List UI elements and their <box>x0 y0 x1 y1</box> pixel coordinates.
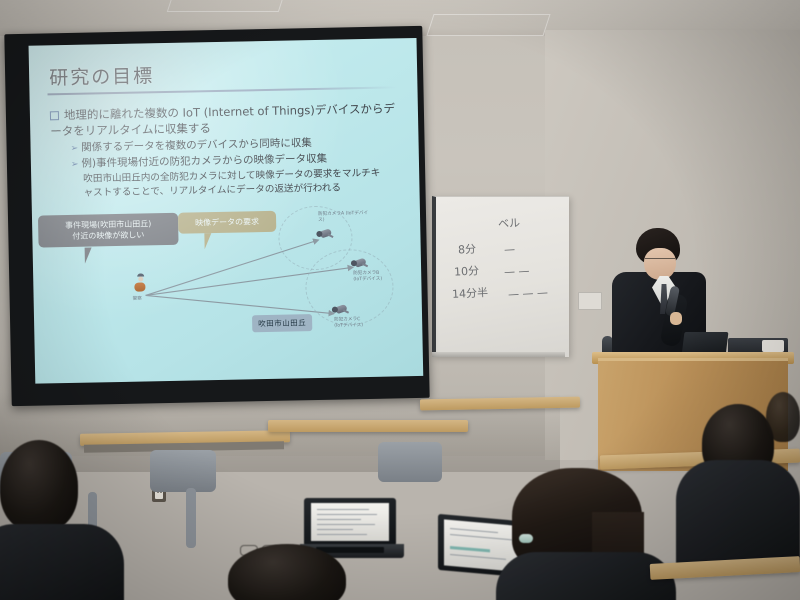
slide-title: 研究の目標 <box>49 61 155 90</box>
lecture-room-photo: ベル 8分 — 10分 — — 14分半 — — — 研究の目標 地理的に離れた… <box>0 0 800 600</box>
bullet-1-text: 地理的に離れた複数の IoT (Internet of Things)デバイスか… <box>50 101 395 138</box>
whiteboard-row-marks: — <box>504 243 516 257</box>
whiteboard-row-time: 10分 <box>454 262 480 279</box>
audience-bracelet <box>519 534 533 543</box>
subbullet-2-text: 例)事件現場付近の防犯カメラからの映像データ収集 <box>81 153 327 170</box>
wall-panel <box>578 292 602 310</box>
camera-c-label: 防犯カメラC (IoTデバイス) <box>334 317 390 330</box>
display-text-line <box>450 534 512 540</box>
slide-diagram: 事件現場(吹田市山田丘) 付近の映像が欲しい 映像データの要求 警察 <box>32 200 423 348</box>
display-text-line <box>317 514 377 515</box>
display-text-line <box>317 524 375 525</box>
display-accent-band <box>450 546 490 552</box>
police-label: 警察 <box>133 296 142 302</box>
place-label-suita: 吹田市山田丘 <box>252 314 312 332</box>
camera-b-label: 防犯カメラB (IoTデバイス) <box>353 270 409 283</box>
display-text-line <box>317 509 369 510</box>
bubble-request-scene-line2: 付近の映像が欲しい <box>45 229 171 243</box>
display-text-line <box>317 529 353 530</box>
bubble-tail <box>85 248 92 264</box>
bubble-video-request: 映像データの要求 <box>178 211 276 234</box>
presenter-glasses-icon <box>645 258 675 265</box>
podium-equipment-white <box>762 340 784 352</box>
chair-frame <box>186 488 196 548</box>
whiteboard-heading: ベル <box>498 214 521 231</box>
bubble-request-scene: 事件現場(吹田市山田丘) 付近の映像が欲しい <box>38 213 179 248</box>
projection-screen: 研究の目標 地理的に離れた複数の IoT (Internet of Things… <box>4 26 429 406</box>
camera-lens <box>332 307 338 313</box>
whiteboard-row-marks: — — — <box>508 286 549 301</box>
arrow-bullet-icon: ➢ <box>71 144 79 154</box>
whiteboard-row-time: 14分半 <box>452 284 489 302</box>
whiteboard-row-time: 8分 <box>458 241 477 258</box>
whiteboard-row-marks: — — <box>504 264 530 278</box>
display-text-line <box>317 534 367 535</box>
ceiling-tile <box>167 0 285 12</box>
whiteboard-tray <box>432 352 565 357</box>
audience-long-hair-shoulders <box>496 552 676 600</box>
desk <box>268 420 468 432</box>
display-text-line <box>450 554 506 560</box>
chair[interactable] <box>378 442 442 482</box>
audience-far-right-head <box>766 392 800 442</box>
bubble-tail <box>204 233 211 249</box>
police-body-icon <box>134 282 145 291</box>
display-text-line <box>450 528 498 533</box>
police-head-icon <box>138 276 143 281</box>
desk-foreground <box>650 556 800 580</box>
audience-suit-right-shoulders <box>676 460 800 570</box>
screen-surface: 研究の目標 地理的に離れた複数の IoT (Internet of Things… <box>29 38 424 384</box>
display-text-line <box>317 519 361 520</box>
presenter-hand <box>670 312 682 325</box>
camera-a-label: 防犯カメラA (IoTデバイス) <box>318 211 374 224</box>
arrow-bullet-icon: ➢ <box>71 160 79 170</box>
camera-lens <box>316 231 322 237</box>
laptop-display <box>311 503 389 541</box>
slide-bullet-1: 地理的に離れた複数の IoT (Internet of Things)デバイスか… <box>50 100 401 139</box>
audience-front-left-shoulders <box>0 524 124 600</box>
slide: 研究の目標 地理的に離れた複数の IoT (Internet of Things… <box>29 38 424 384</box>
ceiling-tile <box>426 14 550 36</box>
slide-paragraph: 吹田市山田丘内の全防犯カメラに対して映像データの要求をマルチキャストすることで、… <box>83 167 383 200</box>
camera-lens <box>351 260 357 266</box>
square-bullet-icon <box>50 111 59 120</box>
subbullet-1-text: 関係するデータを複数のデバイスから同時に収集 <box>81 137 312 154</box>
chair[interactable] <box>150 450 216 492</box>
whiteboard: ベル 8分 — 10分 — — 14分半 — — — <box>432 196 569 357</box>
audience-front-left-head <box>0 440 78 532</box>
